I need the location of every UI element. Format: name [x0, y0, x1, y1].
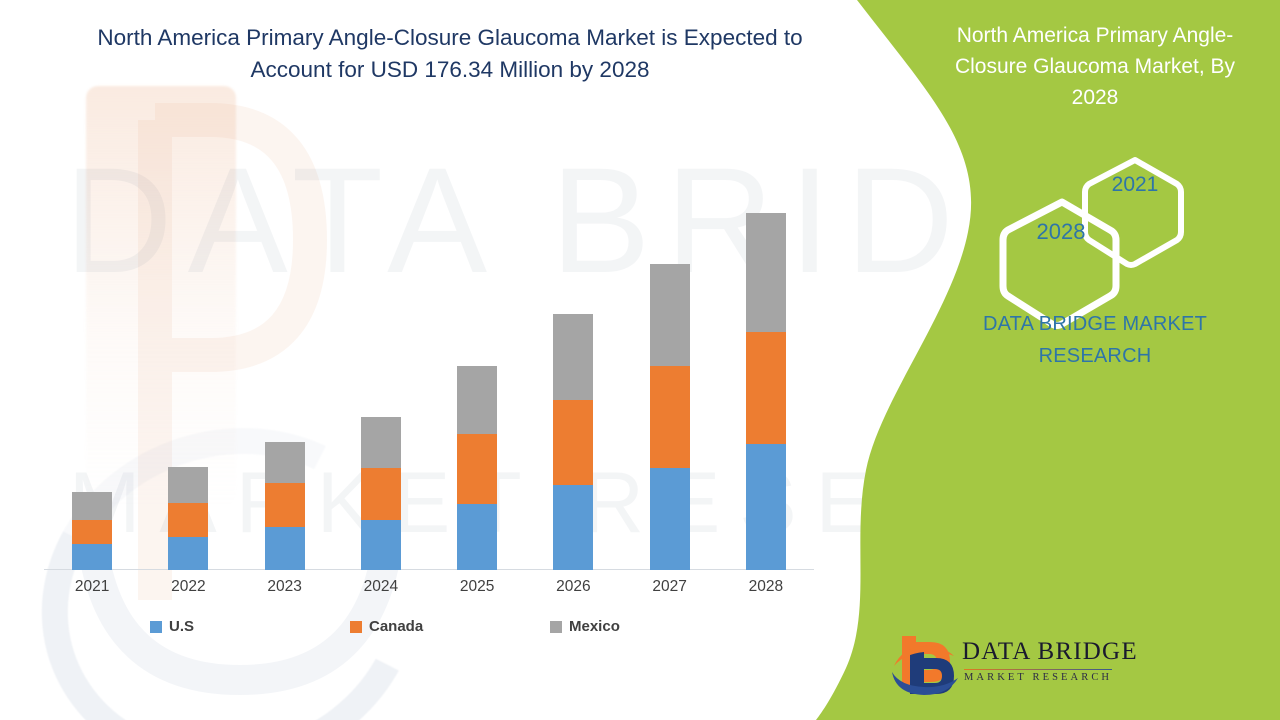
bar-segment-mexico[interactable]: [168, 467, 208, 503]
stacked-bar-2023[interactable]: [265, 442, 305, 570]
stacked-bar-chart: 20212022202320242025202620272028 U.SCana…: [0, 0, 860, 720]
x-axis-label-2024: 2024: [333, 578, 429, 596]
bar-segment-mexico[interactable]: [361, 417, 401, 468]
hexagon-group: 2021 2028: [970, 145, 1230, 275]
bar-segment-canada[interactable]: [265, 483, 305, 527]
bar-segment-canada[interactable]: [457, 434, 497, 504]
bar-slot: [525, 170, 621, 570]
stacked-bar-2025[interactable]: [457, 366, 497, 570]
bar-segment-us[interactable]: [746, 444, 786, 570]
infographic-canvas: DATA BRIDGE MARKET RESEARCH North Americ…: [0, 0, 1280, 720]
bar-segment-mexico[interactable]: [746, 213, 786, 332]
bar-slot: [429, 170, 525, 570]
stacked-bar-2027[interactable]: [650, 264, 690, 570]
logo-wordmark: DATA BRIDGE: [962, 638, 1138, 666]
bar-segment-canada[interactable]: [553, 400, 593, 485]
x-axis-label-2023: 2023: [237, 578, 333, 596]
bar-segment-mexico[interactable]: [72, 492, 112, 520]
bar-group: [44, 170, 814, 570]
bar-segment-canada[interactable]: [650, 366, 690, 468]
x-axis-label-2027: 2027: [622, 578, 718, 596]
logo-subtitle: MARKET RESEARCH: [964, 672, 1112, 683]
stacked-bar-2021[interactable]: [72, 492, 112, 570]
x-axis-label-2022: 2022: [140, 578, 236, 596]
stacked-bar-2028[interactable]: [746, 213, 786, 570]
bar-segment-us[interactable]: [457, 504, 497, 570]
hexagon-2021-label: 2021: [1095, 173, 1175, 197]
x-axis-label-2021: 2021: [44, 578, 140, 596]
logo-mark-icon: [890, 632, 962, 698]
bar-segment-us[interactable]: [168, 537, 208, 570]
bar-segment-mexico[interactable]: [553, 314, 593, 400]
company-logo: DATA BRIDGE MARKET RESEARCH: [890, 632, 1120, 700]
legend-label: U.S: [169, 618, 194, 635]
bar-slot: [140, 170, 236, 570]
legend-swatch-icon: [350, 621, 362, 633]
bar-segment-mexico[interactable]: [265, 442, 305, 483]
bar-segment-us[interactable]: [72, 544, 112, 570]
bar-slot: [333, 170, 429, 570]
stacked-bar-2022[interactable]: [168, 467, 208, 570]
bar-segment-us[interactable]: [361, 520, 401, 570]
bar-slot: [622, 170, 718, 570]
legend-label: Mexico: [569, 618, 620, 635]
hexagon-2028-label: 2028: [1018, 219, 1104, 245]
x-axis-label-2025: 2025: [429, 578, 525, 596]
bar-segment-us[interactable]: [553, 485, 593, 570]
panel-content: North America Primary Angle-Closure Glau…: [940, 0, 1280, 720]
stacked-bar-2026[interactable]: [553, 314, 593, 570]
bar-slot: [44, 170, 140, 570]
legend-swatch-icon: [550, 621, 562, 633]
bar-segment-mexico[interactable]: [650, 264, 690, 366]
bar-slot: [718, 170, 814, 570]
x-axis-label-2028: 2028: [718, 578, 814, 596]
bar-segment-canada[interactable]: [746, 332, 786, 444]
chart-legend: U.SCanadaMexico: [150, 618, 750, 635]
bar-segment-us[interactable]: [265, 527, 305, 570]
legend-swatch-icon: [150, 621, 162, 633]
panel-title: North America Primary Angle-Closure Glau…: [930, 20, 1260, 113]
bar-segment-canada[interactable]: [72, 520, 112, 544]
legend-item-us[interactable]: U.S: [150, 618, 350, 635]
legend-label: Canada: [369, 618, 423, 635]
bar-segment-us[interactable]: [650, 468, 690, 570]
stacked-bar-2024[interactable]: [361, 417, 401, 570]
legend-item-canada[interactable]: Canada: [350, 618, 550, 635]
bar-segment-mexico[interactable]: [457, 366, 497, 434]
x-axis-label-2026: 2026: [525, 578, 621, 596]
bar-segment-canada[interactable]: [361, 468, 401, 520]
bar-slot: [237, 170, 333, 570]
x-axis-labels: 20212022202320242025202620272028: [44, 578, 814, 596]
logo-divider: [964, 669, 1112, 670]
panel-brand-text: DATA BRIDGE MARKET RESEARCH: [930, 308, 1260, 372]
legend-item-mexico[interactable]: Mexico: [550, 618, 750, 635]
bar-segment-canada[interactable]: [168, 503, 208, 537]
